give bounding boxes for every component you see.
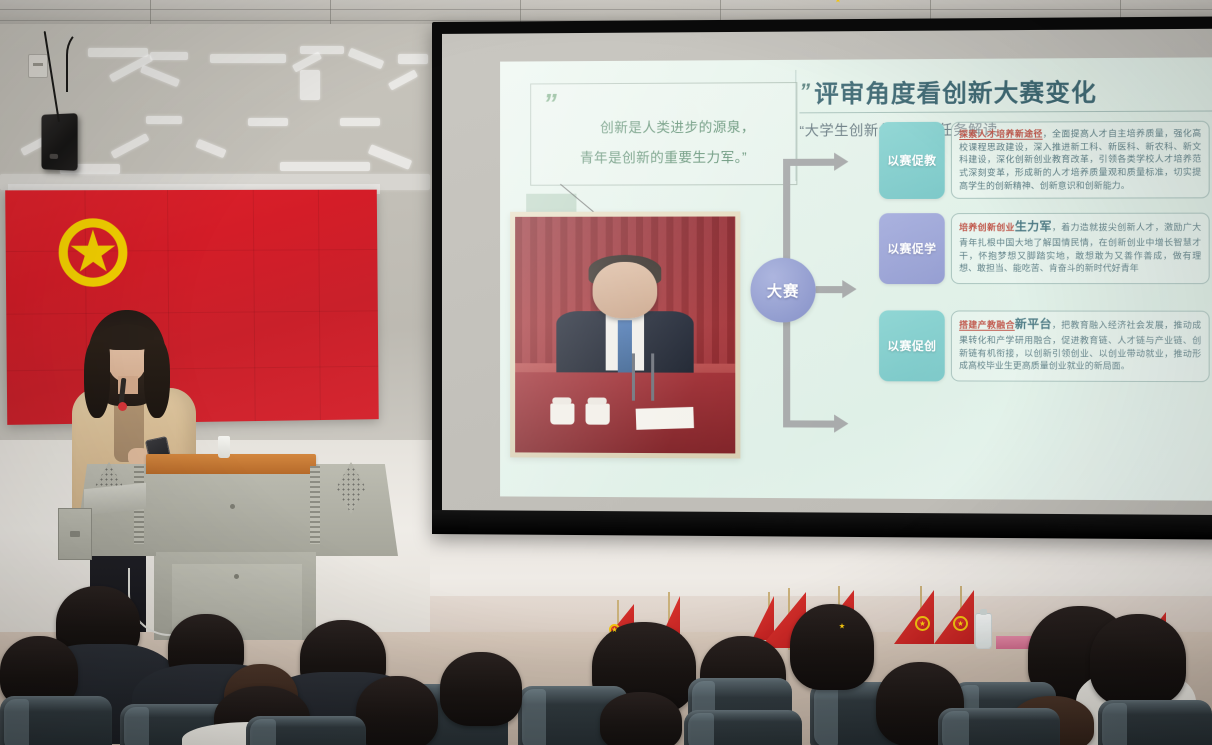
connector-up — [783, 159, 790, 260]
quote-box: ” 创新是人类进步的源泉， 青年是创新的重要生力军。” — [530, 82, 797, 186]
diagram-row-2: 以赛促学 培养创新创业生力军，着力造就拔尖创新人才，激励广大青年扎根中国大地了解… — [879, 213, 1210, 284]
screen-mat: ” 创新是人类进步的源泉， 青年是创新的重要生力军。” — [442, 29, 1212, 515]
audience-head — [440, 652, 522, 726]
audience-head — [1090, 614, 1186, 706]
wall-outlet — [28, 54, 48, 78]
lectern-control-box[interactable] — [58, 508, 92, 560]
projection-screen: ” 创新是人类进步的源泉， 青年是创新的重要生力军。” — [432, 16, 1212, 539]
audience-head — [600, 692, 682, 745]
row-2-highlight-prefix: 培养创新创业 — [959, 222, 1015, 232]
arrow-down-icon — [834, 414, 848, 432]
title-quote-icon: ” — [799, 81, 807, 102]
audience-head — [356, 676, 438, 745]
row-1-tag: 以赛促教 — [879, 122, 945, 199]
diagram-row-3: 以赛促创 搭建产教融合新平台，把教育融入经济社会发展，推动成果转化和产学研用融合… — [879, 310, 1210, 382]
quote-line-1: 创新是人类进步的源泉， — [561, 115, 794, 136]
row-2-tag: 以赛促学 — [879, 213, 945, 284]
row-1-tag-label: 以赛促教 — [887, 152, 936, 168]
title-underline — [799, 110, 1212, 113]
speaker-cable-curve — [66, 30, 112, 92]
slide-photo — [510, 211, 740, 458]
connector-up-arm — [783, 159, 836, 166]
slide-title-row: ” 评审角度看创新大赛变化 — [799, 72, 1211, 110]
row-3-highlight-prefix: 搭建产教融合 — [959, 320, 1015, 331]
lecture-hall-scene: ” 创新是人类进步的源泉， 青年是创新的重要生力军。” — [0, 0, 1212, 745]
row-2-highlight: 生力军 — [1015, 221, 1052, 233]
seat — [0, 696, 112, 745]
row-1-card: 探索人才培养新途径，全面提高人才自主培养质量，强化高校课程思政建设，深入推进新工… — [951, 121, 1210, 199]
seat — [1098, 700, 1212, 745]
quote-line-2: 青年是创新的重要生力军。” — [533, 146, 794, 167]
center-node-label: 大赛 — [767, 280, 800, 301]
presentation-slide: ” 创新是人类进步的源泉， 青年是创新的重要生力军。” — [500, 57, 1212, 500]
connector-mid — [816, 286, 845, 293]
row-3-tag: 以赛促创 — [879, 310, 945, 381]
arrow-mid-icon — [842, 280, 856, 298]
audience-head — [790, 604, 874, 690]
seat — [246, 716, 366, 745]
row-2-card: 培养创新创业生力军，着力造就拔尖创新人才，激励广大青年扎根中国大地了解国情民情，… — [951, 213, 1210, 284]
slide-title: 评审角度看创新大赛变化 — [814, 72, 1097, 109]
audience — [0, 560, 1212, 745]
seat — [938, 708, 1060, 745]
youth-league-emblem-icon — [58, 218, 127, 287]
arrow-up-icon — [834, 153, 848, 171]
seat — [684, 710, 802, 745]
quote-mark-icon: ” — [543, 90, 554, 117]
row-3-tag-label: 以赛促创 — [887, 338, 936, 354]
row-3-highlight: 新平台 — [1015, 319, 1052, 331]
row-3-card: 搭建产教融合新平台，把教育融入经济社会发展，推动成果转化和产学研用融合，促进教育… — [951, 310, 1210, 382]
row-2-tag-label: 以赛促学 — [887, 240, 936, 256]
diagram-row-1: 以赛促教 探索人才培养新途径，全面提高人才自主培养质量，强化高校课程思政建设，深… — [879, 121, 1210, 199]
connector-down — [783, 320, 790, 427]
diagram-center-node: 大赛 — [751, 258, 816, 323]
connector-down-arm — [783, 420, 836, 427]
water-bottle-on-lectern — [218, 436, 230, 458]
row-1-highlight: 探索人才培养新途径 — [959, 129, 1043, 140]
